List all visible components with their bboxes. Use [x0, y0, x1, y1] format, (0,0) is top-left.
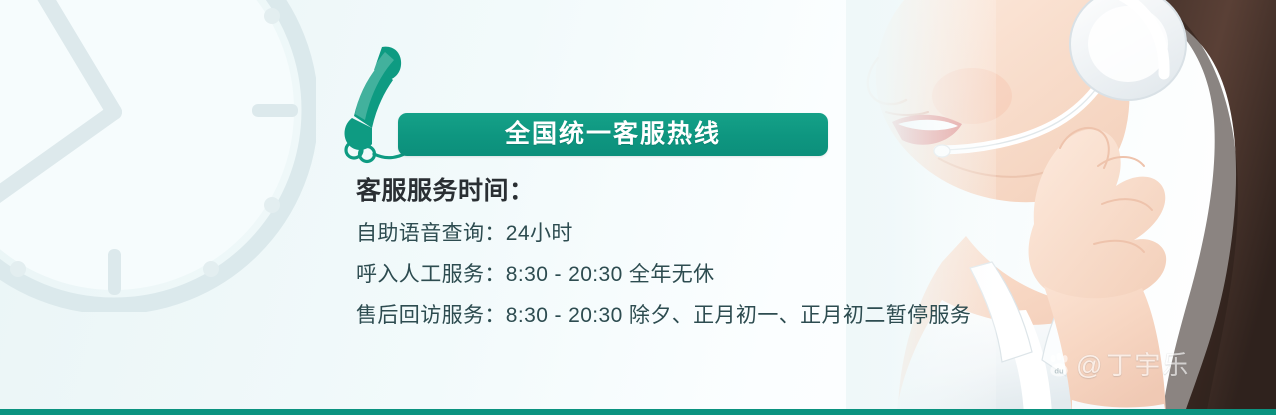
hotline-headline-label: 全国统一客服热线 — [505, 122, 721, 147]
service-hours-heading: 客服服务时间： — [356, 179, 1056, 204]
customer-service-hotline-banner: 全国统一客服热线 客服服务时间： 自助语音查询：24小时 呼入人工服务：8:30… — [0, 0, 1276, 415]
hotline-headline-pill: 全国统一客服热线 — [398, 113, 828, 156]
service-line-live-agent: 呼入人工服务：8:30 - 20:30 全年无休 — [356, 264, 1056, 285]
service-line-self-service-voice: 自助语音查询：24小时 — [356, 223, 1056, 244]
bottom-accent-bar — [0, 409, 1276, 415]
service-hours-block: 客服服务时间： 自助语音查询：24小时 呼入人工服务：8:30 - 20:30 … — [356, 179, 1056, 326]
service-line-after-sales-followup: 售后回访服务：8:30 - 20:30 除夕、正月初一、正月初二暂停服务 — [356, 305, 1056, 326]
clock-watermark-icon — [0, 0, 316, 312]
